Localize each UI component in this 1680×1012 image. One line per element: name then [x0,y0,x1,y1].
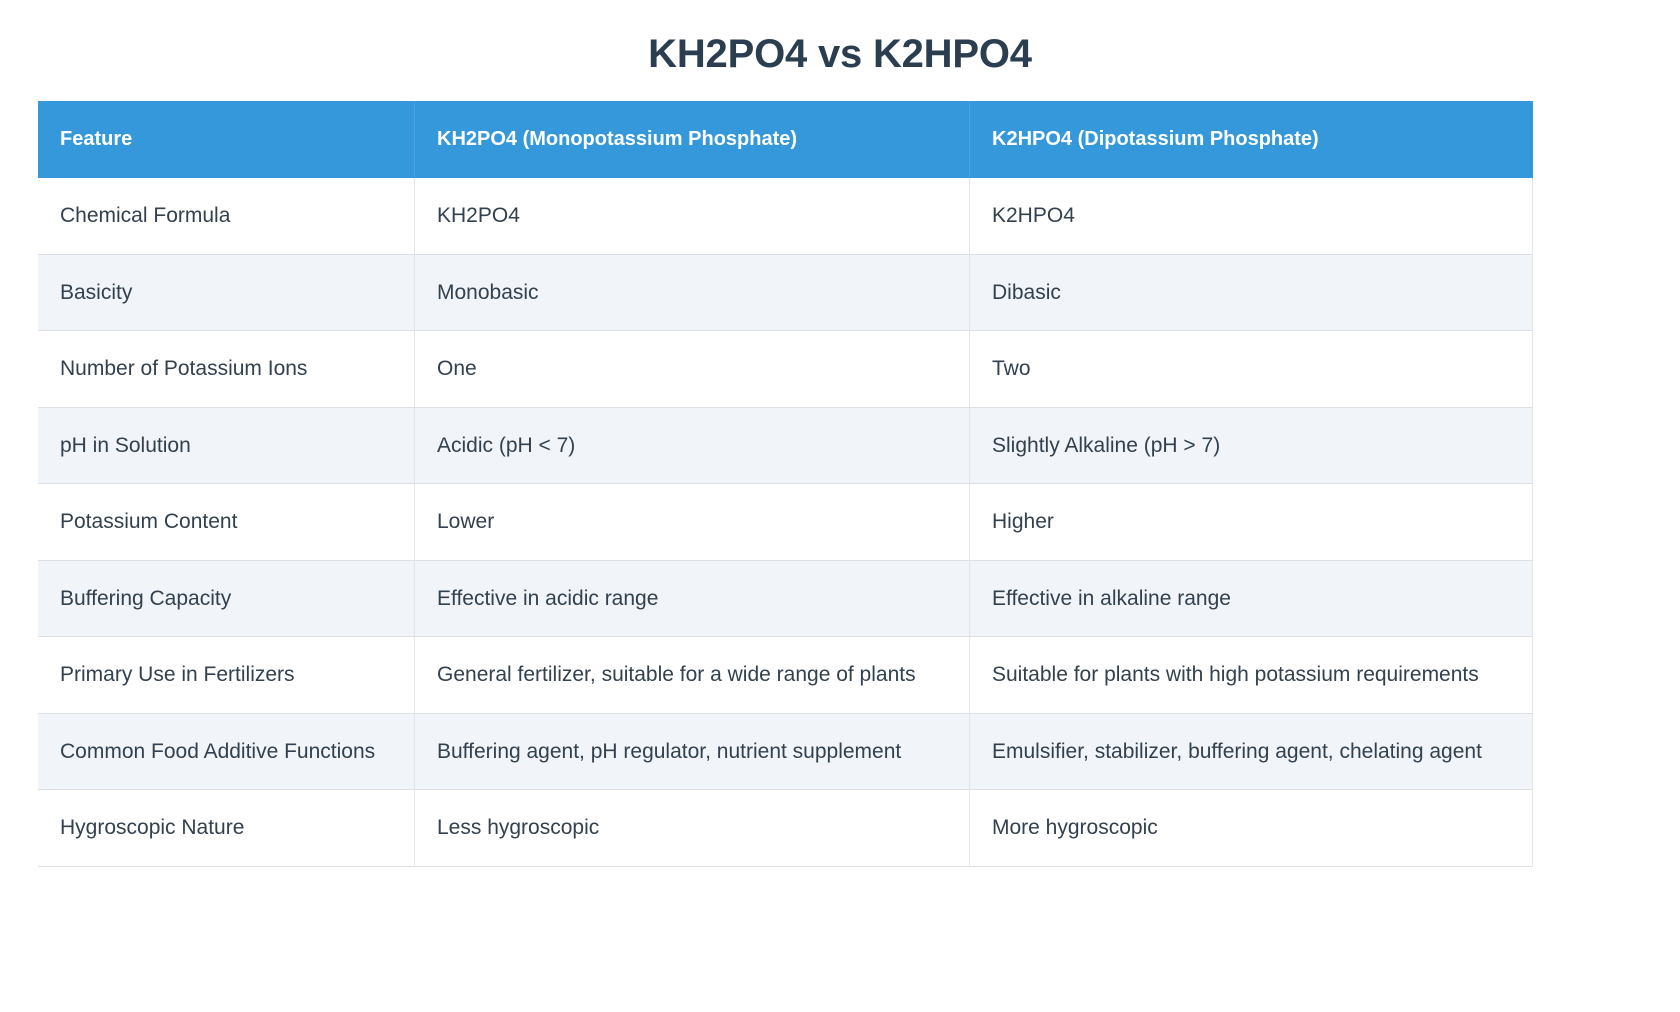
cell-feature: Primary Use in Fertilizers [38,637,415,714]
table-row: pH in SolutionAcidic (pH < 7)Slightly Al… [38,408,1533,485]
cell-feature: Hygroscopic Nature [38,790,415,867]
table-row: Primary Use in FertilizersGeneral fertil… [38,637,1533,714]
cell-feature: pH in Solution [38,408,415,485]
table-header-row: Feature KH2PO4 (Monopotassium Phosphate)… [38,101,1533,178]
page-title: KH2PO4 vs K2HPO4 [0,0,1680,78]
cell-feature: Common Food Additive Functions [38,714,415,791]
table-body: Chemical FormulaKH2PO4K2HPO4BasicityMono… [38,178,1533,867]
comparison-table-container: Feature KH2PO4 (Monopotassium Phosphate)… [38,101,1533,867]
cell-feature: Basicity [38,255,415,332]
comparison-table: Feature KH2PO4 (Monopotassium Phosphate)… [38,101,1533,867]
cell-kh2po4: Monobasic [415,255,970,332]
cell-k2hpo4: Suitable for plants with high potassium … [970,637,1533,714]
cell-k2hpo4: Emulsifier, stabilizer, buffering agent,… [970,714,1533,791]
comparison-page: KH2PO4 vs K2HPO4 Feature KH2PO4 (Monopot… [0,0,1680,1012]
cell-feature: Buffering Capacity [38,561,415,638]
table-row: Hygroscopic NatureLess hygroscopicMore h… [38,790,1533,867]
cell-k2hpo4: Higher [970,484,1533,561]
cell-k2hpo4: Slightly Alkaline (pH > 7) [970,408,1533,485]
cell-feature: Potassium Content [38,484,415,561]
cell-k2hpo4: K2HPO4 [970,178,1533,255]
cell-kh2po4: General fertilizer, suitable for a wide … [415,637,970,714]
table-row: Common Food Additive FunctionsBuffering … [38,714,1533,791]
cell-kh2po4: KH2PO4 [415,178,970,255]
table-row: Potassium ContentLowerHigher [38,484,1533,561]
column-header-feature[interactable]: Feature [38,101,415,178]
cell-feature: Number of Potassium Ions [38,331,415,408]
cell-kh2po4: One [415,331,970,408]
column-header-kh2po4[interactable]: KH2PO4 (Monopotassium Phosphate) [415,101,970,178]
cell-k2hpo4: Two [970,331,1533,408]
cell-kh2po4: Buffering agent, pH regulator, nutrient … [415,714,970,791]
table-row: BasicityMonobasicDibasic [38,255,1533,332]
table-row: Number of Potassium IonsOneTwo [38,331,1533,408]
cell-kh2po4: Less hygroscopic [415,790,970,867]
table-row: Buffering CapacityEffective in acidic ra… [38,561,1533,638]
cell-feature: Chemical Formula [38,178,415,255]
cell-kh2po4: Acidic (pH < 7) [415,408,970,485]
column-header-k2hpo4[interactable]: K2HPO4 (Dipotassium Phosphate) [970,101,1533,178]
cell-k2hpo4: Effective in alkaline range [970,561,1533,638]
cell-k2hpo4: Dibasic [970,255,1533,332]
table-row: Chemical FormulaKH2PO4K2HPO4 [38,178,1533,255]
cell-k2hpo4: More hygroscopic [970,790,1533,867]
cell-kh2po4: Effective in acidic range [415,561,970,638]
cell-kh2po4: Lower [415,484,970,561]
table-header: Feature KH2PO4 (Monopotassium Phosphate)… [38,101,1533,178]
